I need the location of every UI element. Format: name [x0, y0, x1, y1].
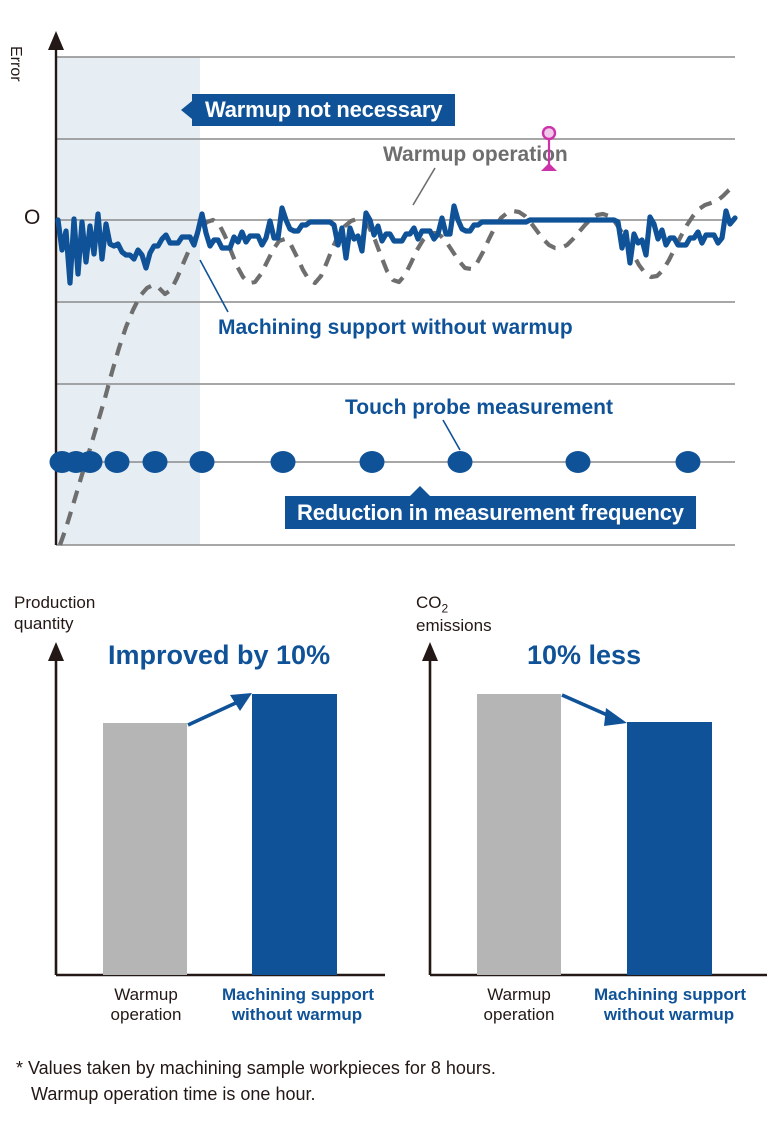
cat-line2: without warmup: [604, 1005, 734, 1024]
footnote-line2: Warmup operation time is one hour.: [16, 1081, 756, 1107]
co2-category-machining: Machining support without warmup: [594, 985, 744, 1025]
cat-line2: operation: [111, 1005, 182, 1024]
error-trend-chart: Error O Warmup not necessary Reduction i…: [0, 0, 783, 565]
magenta-pin-marker-icon: [538, 126, 560, 172]
series-label-touch-probe: Touch probe measurement: [345, 396, 613, 420]
reduction-arrow-icon: [562, 695, 627, 726]
error-chart-svg: [0, 0, 783, 565]
cat-line2: without warmup: [232, 1005, 362, 1024]
y-axis-title: Error: [6, 46, 24, 82]
cat-line1: Machining support: [594, 985, 746, 1004]
cat-line1: Warmup: [487, 985, 551, 1004]
co2-axis-title: CO2 emissions: [416, 593, 492, 637]
infographic-page: Error O Warmup not necessary Reduction i…: [0, 0, 783, 1140]
warmup-op-leader-line: [413, 168, 435, 205]
callout-notch-left-icon: [181, 101, 192, 119]
co2-axis-title-line2: emissions: [416, 616, 492, 635]
callout-notch-up-icon: [410, 486, 430, 496]
machining-leader-line: [200, 260, 228, 312]
cat-line1: Machining support: [222, 985, 374, 1004]
zero-axis-label: O: [24, 206, 40, 230]
production-axis-title: Production quantity: [14, 593, 95, 634]
callout-reduction-measurement-frequency: Reduction in measurement frequency: [285, 496, 696, 529]
bar-warmup-operation: [103, 723, 187, 975]
callout-reduction-text: Reduction in measurement frequency: [297, 500, 684, 526]
y-axis-arrow-icon: [48, 31, 64, 50]
co2-delta-annotation: 10% less: [527, 640, 641, 671]
footnote-line1: * Values taken by machining sample workp…: [16, 1058, 496, 1078]
footnote: * Values taken by machining sample workp…: [16, 1055, 756, 1107]
co2-axis-title-line1: CO2: [416, 593, 448, 612]
co2-category-warmup: Warmup operation: [469, 985, 569, 1025]
production-category-warmup: Warmup operation: [96, 985, 196, 1025]
bar-machining-support: [252, 694, 337, 975]
touch-probe-leader-line: [443, 420, 460, 450]
series-label-machining-support: Machining support without warmup: [218, 316, 573, 340]
production-y-axis-arrow-icon: [48, 642, 64, 661]
cat-line1: Warmup: [114, 985, 178, 1004]
improvement-arrow-icon: [188, 693, 252, 725]
production-axis-title-line2: quantity: [14, 614, 74, 633]
callout-warmup-not-necessary: Warmup not necessary: [192, 94, 455, 126]
production-category-machining: Machining support without warmup: [222, 985, 372, 1025]
cat-line2: operation: [484, 1005, 555, 1024]
callout-warmup-text: Warmup not necessary: [205, 97, 442, 123]
production-delta-annotation: Improved by 10%: [108, 640, 330, 671]
bar-warmup-operation: [477, 694, 561, 975]
bar-machining-support: [627, 722, 712, 975]
production-axis-title-line1: Production: [14, 593, 95, 612]
co2-y-axis-arrow-icon: [422, 642, 438, 661]
